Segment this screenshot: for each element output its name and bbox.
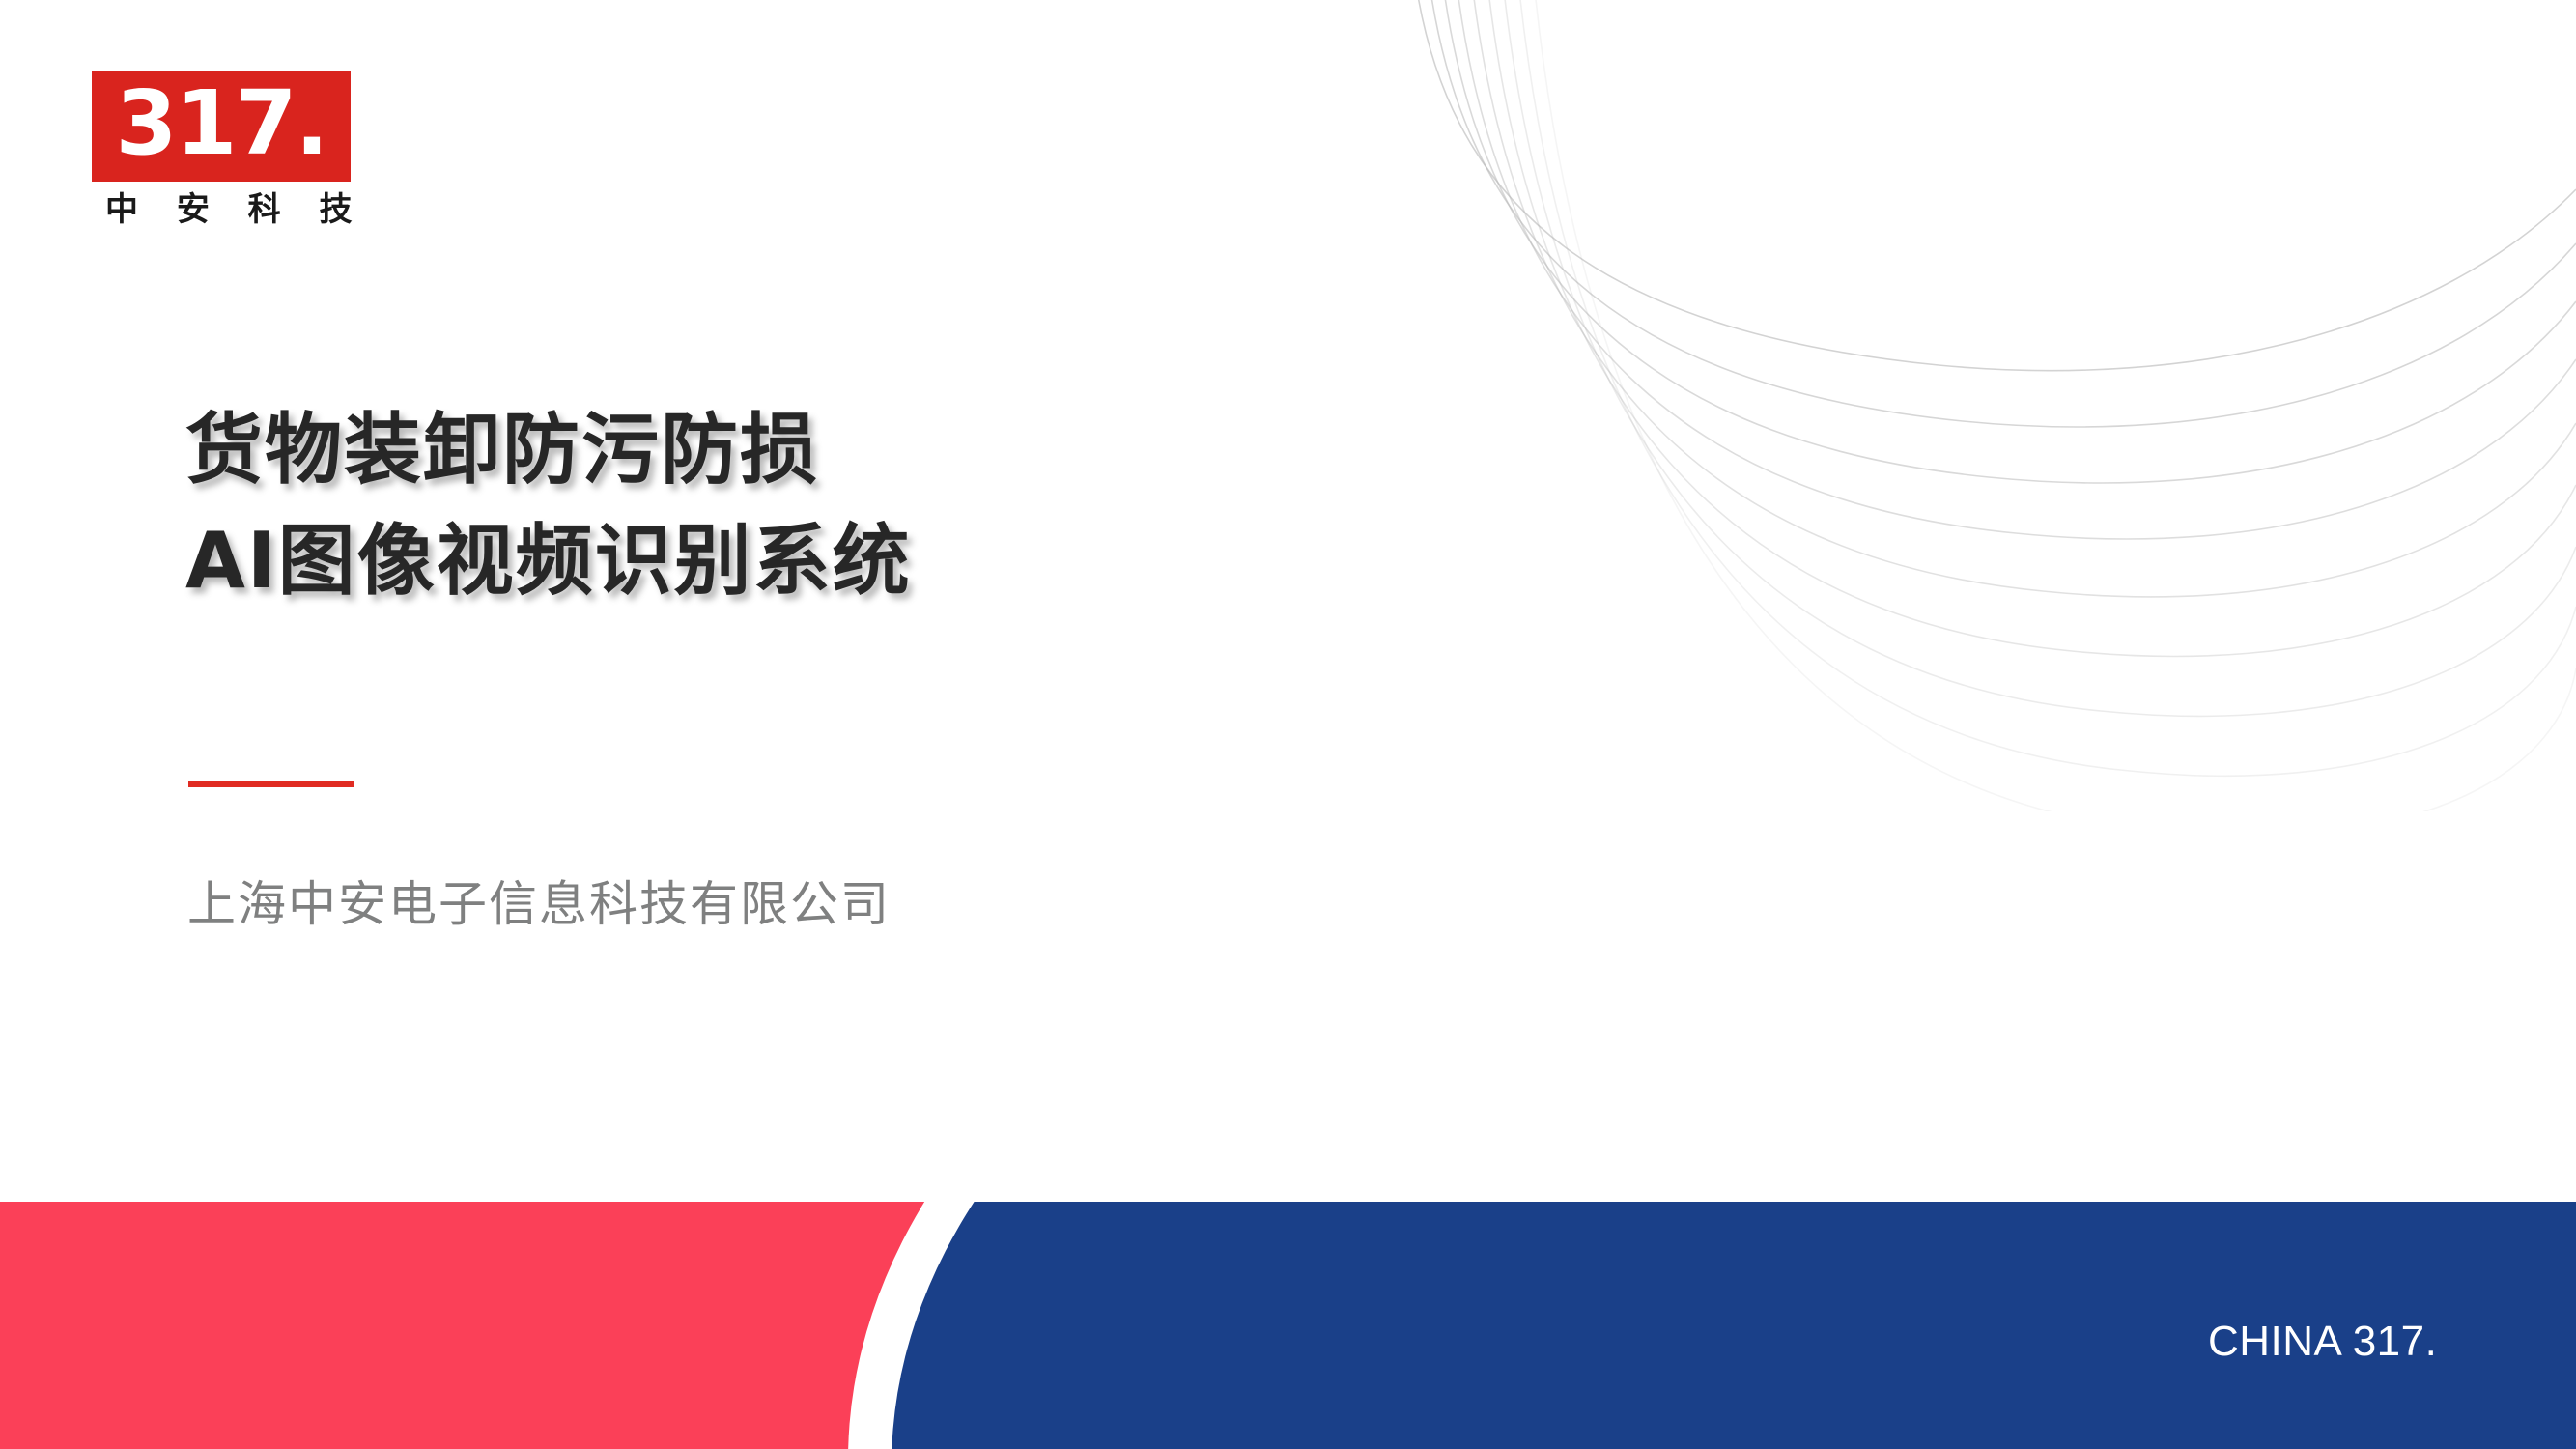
logo-company-short-name: 中 安 科 技 (92, 193, 351, 226)
curve-fan-decoration (1398, 0, 2576, 811)
banner-brand-label: CHINA 317. (2208, 1317, 2437, 1367)
page-title: 货物装卸防污防损 AI图像视频识别系统 (185, 394, 1441, 616)
title-divider-rule (188, 781, 354, 787)
company-logo: 317. 中 安 科 技 (92, 71, 351, 226)
slide-canvas: 317. 中 安 科 技 货物装卸防污防损 AI图像视频识别系统 上海中安电子信… (0, 0, 2576, 1449)
page-title-line-2: AI图像视频识别系统 (185, 505, 1441, 616)
logo-mark-text: 317. (116, 79, 327, 168)
bottom-banner (0, 1202, 2576, 1449)
page-title-line-1: 货物装卸防污防损 (185, 394, 1441, 505)
logo-mark-317: 317. (92, 71, 351, 182)
subtitle-company-name: 上海中安电子信息科技有限公司 (187, 874, 891, 934)
